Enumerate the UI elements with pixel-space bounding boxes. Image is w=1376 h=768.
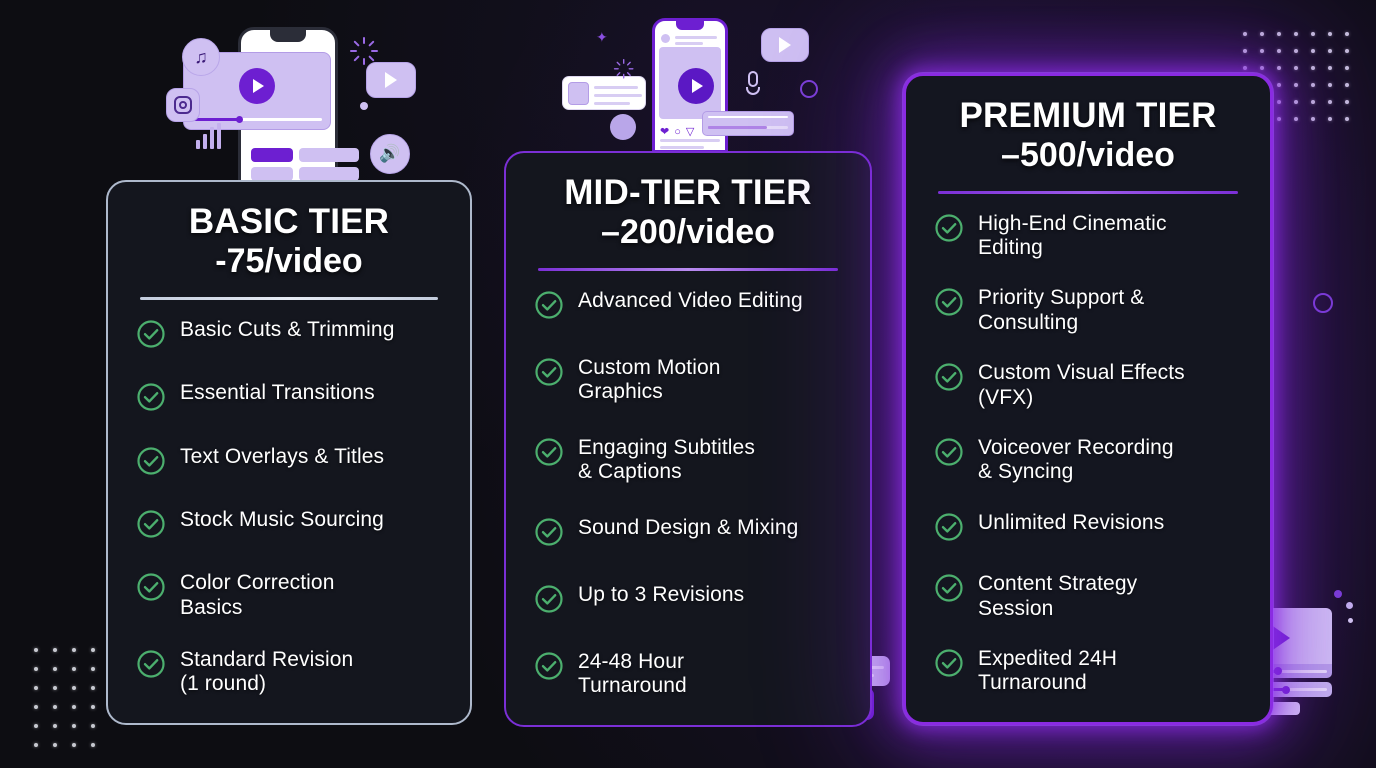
- list-item: 24-48 Hour Turnaround: [534, 650, 844, 699]
- grid-dot: [1311, 100, 1315, 104]
- feature-label: Color Correction Basics: [180, 571, 335, 620]
- ui-tile: [251, 167, 293, 181]
- check-circle-icon: [136, 319, 166, 354]
- card-divider: [538, 268, 838, 271]
- grid-dot: [53, 724, 57, 728]
- grid-dot: [53, 648, 57, 652]
- check-circle-icon: [534, 517, 564, 552]
- avatar: [661, 34, 670, 43]
- grid-dot: [1311, 117, 1315, 121]
- list-item: Priority Support & Consulting: [934, 286, 1244, 335]
- feature-label: Priority Support & Consulting: [978, 286, 1144, 335]
- instagram-icon: [166, 88, 200, 122]
- grid-dot: [1294, 117, 1298, 121]
- grid-dot: [1260, 32, 1264, 36]
- check-circle-icon: [136, 446, 166, 481]
- feature-label: Essential Transitions: [180, 381, 375, 406]
- sparkle-icon: ✦: [596, 30, 608, 44]
- dot-accent: [208, 76, 215, 83]
- check-circle-icon: [136, 509, 166, 544]
- bar-chart-icon: [196, 123, 221, 149]
- grid-dot: [72, 705, 76, 709]
- grid-dot: [72, 724, 76, 728]
- grid-dot: [91, 667, 95, 671]
- grid-dot: [91, 648, 95, 652]
- grid-dot: [72, 743, 76, 747]
- list-item: Content Strategy Session: [934, 572, 1244, 621]
- illustration-basic-tier: ♫ 🔊: [160, 10, 430, 195]
- grid-dot: [1277, 32, 1281, 36]
- feature-label: Engaging Subtitles & Captions: [578, 436, 755, 485]
- sparkle-burst-icon: [348, 22, 378, 52]
- microphone-stand: [746, 87, 760, 95]
- microphone-icon: [748, 71, 758, 87]
- grid-dot: [34, 705, 38, 709]
- message-card: [562, 76, 646, 110]
- grid-dot: [1328, 32, 1332, 36]
- list-item: Custom Motion Graphics: [534, 356, 844, 405]
- feature-label: Advanced Video Editing: [578, 289, 803, 314]
- grid-dot: [1294, 66, 1298, 70]
- feature-label: Voiceover Recording & Syncing: [978, 436, 1174, 485]
- grid-dot: [1243, 49, 1247, 53]
- illustration-mid-tier: ❤ ○ ▽ ✦: [556, 6, 836, 156]
- grid-dot: [1311, 32, 1315, 36]
- list-item: Unlimited Revisions: [934, 511, 1244, 547]
- check-circle-icon: [136, 572, 166, 607]
- feature-label: Sound Design & Mixing: [578, 516, 798, 541]
- check-circle-icon: [534, 357, 564, 392]
- ui-tile: [299, 148, 359, 162]
- card-price-premium: –500/video: [932, 137, 1244, 174]
- grid-dot: [72, 686, 76, 690]
- feature-label: Expedited 24H Turnaround: [978, 647, 1117, 696]
- dot-grid-bottom-left: [34, 648, 110, 762]
- dot-accent: [360, 102, 368, 110]
- grid-dot: [1345, 49, 1349, 53]
- card-divider: [140, 297, 438, 300]
- grid-dot: [34, 743, 38, 747]
- list-item: Text Overlays & Titles: [136, 445, 444, 481]
- feature-label: High-End Cinematic Editing: [978, 212, 1167, 261]
- grid-dot: [1243, 66, 1247, 70]
- check-circle-icon: [934, 648, 964, 683]
- seek-bar: [192, 118, 322, 121]
- feature-label: Text Overlays & Titles: [180, 445, 384, 470]
- list-item: Advanced Video Editing: [534, 289, 844, 325]
- card-title-mid: MID-TIER TIER: [532, 175, 844, 211]
- grid-dot: [91, 724, 95, 728]
- grid-dot: [1345, 100, 1349, 104]
- grid-dot: [34, 724, 38, 728]
- music-note-icon: ♫: [182, 38, 220, 76]
- feature-label: Unlimited Revisions: [978, 511, 1164, 536]
- check-circle-icon: [934, 213, 964, 248]
- infographic-canvas: ♫ 🔊 ❤ ○: [0, 0, 1376, 768]
- list-item: Basic Cuts & Trimming: [136, 318, 444, 354]
- grid-dot: [1345, 83, 1349, 87]
- grid-dot: [1277, 83, 1281, 87]
- feature-label: Stock Music Sourcing: [180, 508, 384, 533]
- grid-dot: [1294, 83, 1298, 87]
- dot-accent: [1346, 602, 1353, 609]
- grid-dot: [1328, 49, 1332, 53]
- grid-dot: [34, 667, 38, 671]
- grid-dot: [1311, 66, 1315, 70]
- list-item: Voiceover Recording & Syncing: [934, 436, 1244, 485]
- ui-tile: [299, 167, 359, 181]
- card-divider: [938, 191, 1238, 194]
- list-item: Expedited 24H Turnaround: [934, 647, 1244, 696]
- check-circle-icon: [534, 437, 564, 472]
- pricing-card-basic[interactable]: BASIC TIER -75/video Basic Cuts & Trimmi…: [106, 180, 472, 725]
- check-circle-icon: [934, 573, 964, 608]
- circle-outline-accent: [800, 80, 818, 98]
- feature-label: Basic Cuts & Trimming: [180, 318, 394, 343]
- play-icon: [239, 68, 275, 104]
- feature-label: Custom Motion Graphics: [578, 356, 721, 405]
- list-item: High-End Cinematic Editing: [934, 212, 1244, 261]
- circle-outline-accent: [1313, 293, 1333, 313]
- grid-dot: [1345, 32, 1349, 36]
- check-circle-icon: [534, 290, 564, 325]
- list-item: Custom Visual Effects (VFX): [934, 361, 1244, 410]
- comment-icon: ○: [674, 126, 681, 138]
- grid-dot: [1277, 100, 1281, 104]
- feature-list-basic: Basic Cuts & Trimming Essential Transiti…: [134, 314, 444, 703]
- speaker-icon: 🔊: [370, 134, 410, 174]
- feature-label: 24-48 Hour Turnaround: [578, 650, 687, 699]
- feature-label: Custom Visual Effects (VFX): [978, 361, 1185, 410]
- list-item: Up to 3 Revisions: [534, 583, 844, 619]
- grid-dot: [1328, 66, 1332, 70]
- grid-dot: [1294, 100, 1298, 104]
- check-circle-icon: [934, 437, 964, 472]
- grid-dot: [72, 667, 76, 671]
- grid-dot: [1328, 100, 1332, 104]
- grid-dot: [1345, 117, 1349, 121]
- pricing-card-mid[interactable]: MID-TIER TIER –200/video Advanced Video …: [504, 151, 872, 727]
- grid-dot: [1243, 32, 1247, 36]
- check-circle-icon: [934, 512, 964, 547]
- check-circle-icon: [136, 382, 166, 417]
- grid-dot: [34, 648, 38, 652]
- list-item: Sound Design & Mixing: [534, 516, 844, 552]
- list-item: Standard Revision (1 round): [136, 648, 444, 697]
- list-item: Engaging Subtitles & Captions: [534, 436, 844, 485]
- grid-dot: [1328, 117, 1332, 121]
- pricing-card-premium[interactable]: PREMIUM TIER –500/video High-End Cinemat…: [903, 73, 1273, 725]
- grid-dot: [1311, 49, 1315, 53]
- grid-dot: [34, 686, 38, 690]
- grid-dot: [1260, 66, 1264, 70]
- ui-tile: [251, 148, 293, 162]
- feature-list-premium: High-End Cinematic Editing Priority Supp…: [932, 208, 1244, 702]
- grid-dot: [1311, 83, 1315, 87]
- grid-dot: [53, 743, 57, 747]
- check-circle-icon: [534, 584, 564, 619]
- grid-dot: [1345, 66, 1349, 70]
- sparkle-burst-icon: [613, 49, 634, 70]
- check-circle-icon: [934, 362, 964, 397]
- grid-dot: [1294, 32, 1298, 36]
- feature-label: Content Strategy Session: [978, 572, 1137, 621]
- dot-accent: [1334, 590, 1342, 598]
- grid-dot: [53, 705, 57, 709]
- list-item: Essential Transitions: [136, 381, 444, 417]
- phone-notch: [676, 21, 704, 30]
- phone-notch: [270, 30, 306, 42]
- send-icon: ▽: [686, 125, 694, 138]
- grid-dot: [91, 743, 95, 747]
- list-item: Color Correction Basics: [136, 571, 444, 620]
- card-title-basic: BASIC TIER: [134, 204, 444, 240]
- card-price-basic: -75/video: [134, 243, 444, 280]
- feature-label: Up to 3 Revisions: [578, 583, 744, 608]
- play-icon: [761, 28, 809, 62]
- grid-dot: [1277, 49, 1281, 53]
- grid-dot: [1328, 83, 1332, 87]
- grid-dot: [1294, 49, 1298, 53]
- grid-dot: [1260, 49, 1264, 53]
- dot-accent: [610, 114, 636, 140]
- card-price-mid: –200/video: [532, 214, 844, 251]
- feature-label: Standard Revision (1 round): [180, 648, 353, 697]
- feature-list-mid: Advanced Video Editing Custom Motion Gra…: [532, 285, 844, 705]
- card-title-premium: PREMIUM TIER: [932, 98, 1244, 134]
- check-circle-icon: [136, 649, 166, 684]
- play-icon: [678, 68, 714, 104]
- check-circle-icon: [934, 287, 964, 322]
- list-item: Stock Music Sourcing: [136, 508, 444, 544]
- grid-dot: [53, 667, 57, 671]
- grid-dot: [91, 686, 95, 690]
- grid-dot: [1277, 66, 1281, 70]
- check-circle-icon: [534, 651, 564, 686]
- grid-dot: [72, 648, 76, 652]
- grid-dot: [91, 705, 95, 709]
- play-icon: [366, 62, 416, 98]
- grid-dot: [1277, 117, 1281, 121]
- grid-dot: [53, 686, 57, 690]
- heart-icon: ❤: [660, 125, 669, 138]
- timeline-editor: [702, 111, 794, 136]
- dot-accent: [1348, 618, 1353, 623]
